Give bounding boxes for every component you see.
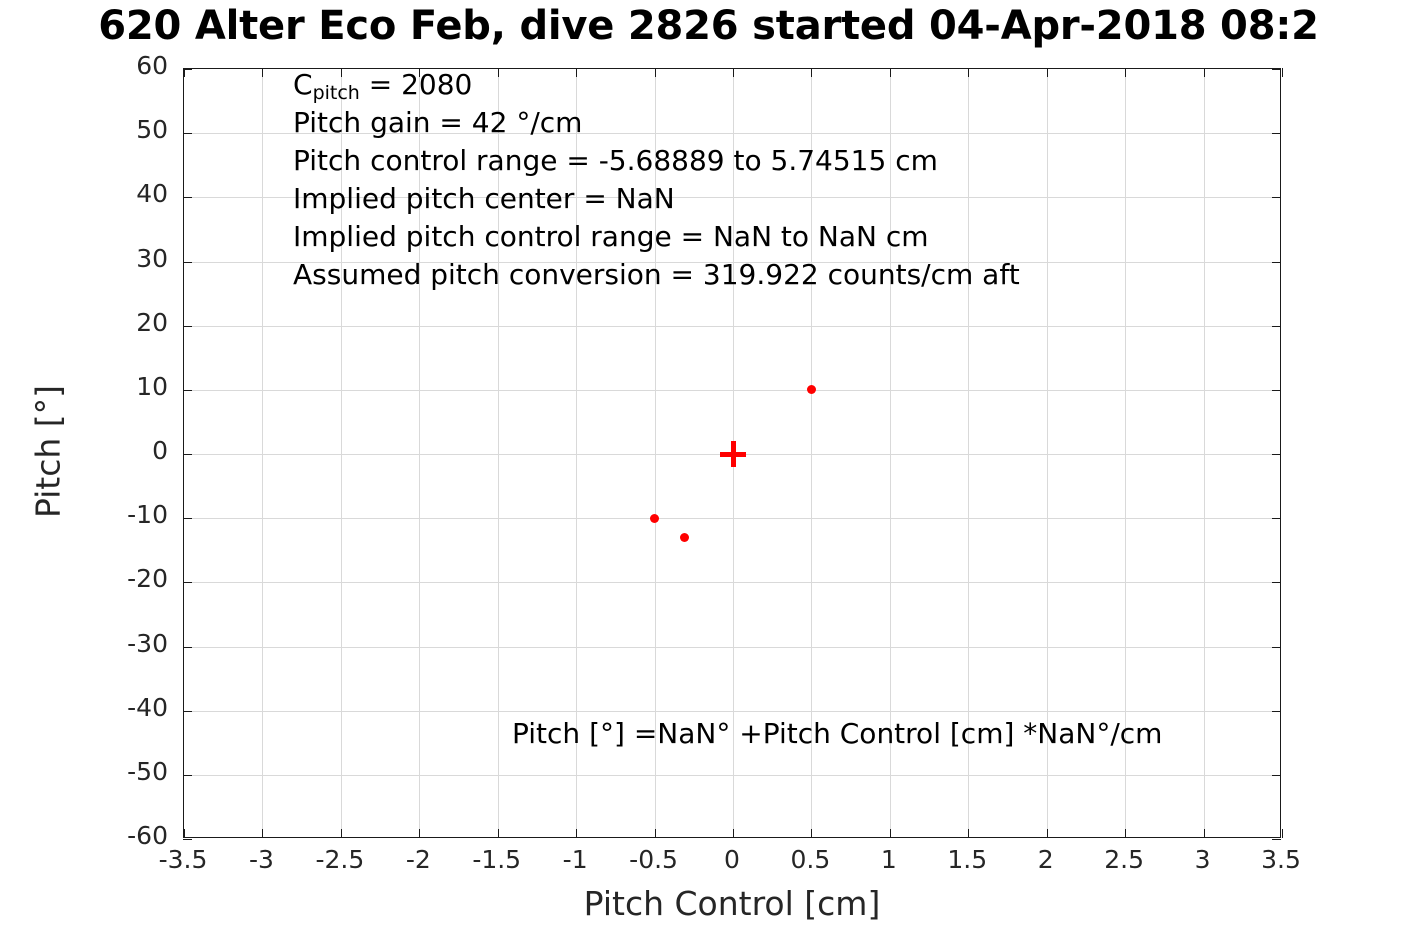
x-axis-tick bbox=[890, 829, 891, 838]
y-axis-tick bbox=[183, 518, 192, 519]
y-tick-label: -10 bbox=[0, 500, 168, 529]
x-tick-label: 3.5 bbox=[1221, 845, 1341, 874]
x-axis-tick-top bbox=[1125, 68, 1126, 77]
x-axis-tick bbox=[968, 829, 969, 838]
x-axis-tick-top bbox=[1047, 68, 1048, 77]
y-tick-label: -20 bbox=[0, 564, 168, 593]
data-point bbox=[680, 533, 689, 542]
y-axis-tick-right bbox=[1272, 133, 1281, 134]
y-axis-tick bbox=[183, 326, 192, 327]
annotation-line: Implied pitch control range = NaN to NaN… bbox=[293, 218, 1020, 256]
x-axis-tick bbox=[262, 829, 263, 838]
x-axis-tick bbox=[1125, 829, 1126, 838]
y-axis-tick-right bbox=[1272, 839, 1281, 840]
x-axis-tick bbox=[576, 829, 577, 838]
y-axis-tick bbox=[183, 647, 192, 648]
x-axis-tick bbox=[341, 829, 342, 838]
page-title: 620 Alter Eco Feb, dive 2826 started 04-… bbox=[0, 2, 1417, 52]
x-axis-tick bbox=[419, 829, 420, 838]
x-axis-tick bbox=[1282, 829, 1283, 838]
x-axis-tick bbox=[498, 829, 499, 838]
x-axis-label: Pitch Control [cm] bbox=[183, 884, 1281, 923]
y-tick-label: 10 bbox=[0, 372, 168, 401]
pitch-center-marker bbox=[733, 454, 734, 455]
y-axis-tick bbox=[183, 197, 192, 198]
gridline-horizontal bbox=[184, 647, 1280, 648]
y-axis-tick-right bbox=[1272, 582, 1281, 583]
annotation-info-block: Cpitch = 2080Pitch gain = 42 °/cmPitch c… bbox=[293, 66, 1020, 294]
y-axis-tick-right bbox=[1272, 518, 1281, 519]
y-axis-tick-right bbox=[1272, 775, 1281, 776]
gridline-horizontal bbox=[184, 326, 1280, 327]
y-axis-tick bbox=[183, 775, 192, 776]
y-axis-tick bbox=[183, 262, 192, 263]
y-axis-tick-right bbox=[1272, 390, 1281, 391]
y-tick-label: -50 bbox=[0, 757, 168, 786]
gridline-vertical bbox=[262, 69, 263, 837]
gridline-horizontal bbox=[184, 518, 1280, 519]
y-tick-label: -40 bbox=[0, 693, 168, 722]
y-axis-tick-right bbox=[1272, 711, 1281, 712]
y-tick-label: -60 bbox=[0, 821, 168, 850]
x-axis-tick bbox=[733, 829, 734, 838]
x-axis-tick bbox=[1047, 829, 1048, 838]
annotation-line: Assumed pitch conversion = 319.922 count… bbox=[293, 256, 1020, 294]
y-axis-tick-right bbox=[1272, 69, 1281, 70]
annotation-line: Pitch control range = -5.68889 to 5.7451… bbox=[293, 142, 1020, 180]
y-tick-label: -30 bbox=[0, 629, 168, 658]
y-tick-label: 50 bbox=[0, 115, 168, 144]
x-axis-tick bbox=[184, 829, 185, 838]
data-point bbox=[650, 514, 659, 523]
gridline-horizontal bbox=[184, 582, 1280, 583]
x-axis-tick bbox=[1204, 829, 1205, 838]
y-axis-tick bbox=[183, 69, 192, 70]
y-axis-tick bbox=[183, 390, 192, 391]
data-point bbox=[807, 385, 816, 394]
annotation-line: Implied pitch center = NaN bbox=[293, 180, 1020, 218]
gridline-vertical bbox=[1204, 69, 1205, 837]
y-axis-tick-right bbox=[1272, 326, 1281, 327]
y-axis-label: Pitch [°] bbox=[29, 342, 68, 562]
y-axis-tick bbox=[183, 454, 192, 455]
annotation-equation: Pitch [°] =NaN° +Pitch Control [cm] *NaN… bbox=[512, 717, 1162, 750]
y-tick-label: 20 bbox=[0, 308, 168, 337]
y-axis-tick bbox=[183, 133, 192, 134]
y-axis-tick-right bbox=[1272, 262, 1281, 263]
y-axis-tick bbox=[183, 839, 192, 840]
x-axis-tick-top bbox=[1204, 68, 1205, 77]
x-axis-tick bbox=[811, 829, 812, 838]
y-axis-tick bbox=[183, 582, 192, 583]
gridline-horizontal bbox=[184, 775, 1280, 776]
x-axis-tick-top bbox=[1282, 68, 1283, 77]
gridline-horizontal bbox=[184, 711, 1280, 712]
y-axis-tick-right bbox=[1272, 647, 1281, 648]
y-axis-tick-right bbox=[1272, 454, 1281, 455]
y-tick-label: 40 bbox=[0, 179, 168, 208]
annotation-line: Cpitch = 2080 bbox=[293, 66, 1020, 104]
y-axis-tick-right bbox=[1272, 197, 1281, 198]
gridline-horizontal bbox=[184, 390, 1280, 391]
y-tick-label: 60 bbox=[0, 51, 168, 80]
x-axis-tick bbox=[655, 829, 656, 838]
y-tick-label: 30 bbox=[0, 244, 168, 273]
y-tick-label: 0 bbox=[0, 436, 168, 465]
x-axis-tick-top bbox=[262, 68, 263, 77]
y-axis-tick bbox=[183, 711, 192, 712]
annotation-line: Pitch gain = 42 °/cm bbox=[293, 104, 1020, 142]
